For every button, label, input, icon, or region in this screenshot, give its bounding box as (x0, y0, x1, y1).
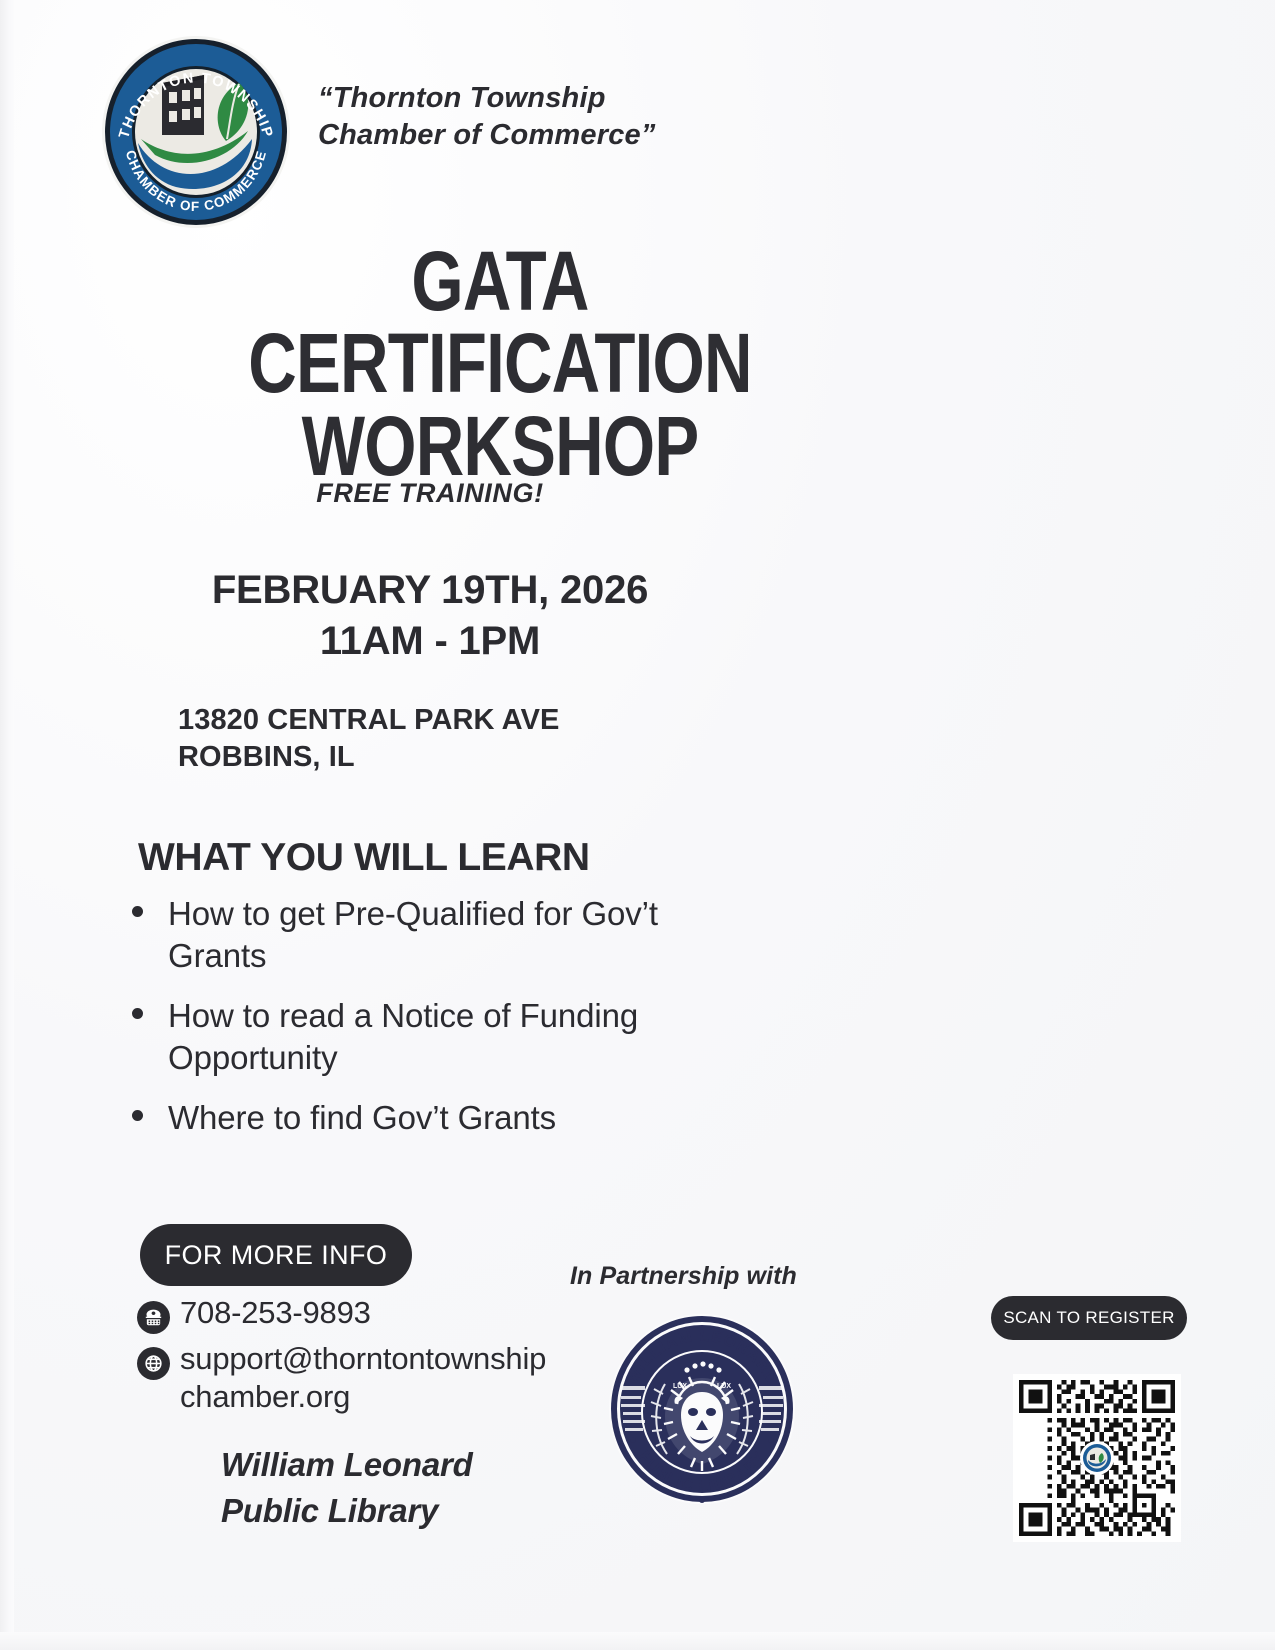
email-line-1: support@thorntontownship (180, 1341, 546, 1376)
address-line-2: ROBBINS, IL (178, 739, 738, 776)
library-name-line-1: William Leonard (221, 1442, 641, 1488)
title-line-2: WORKSHOP (196, 405, 804, 487)
contact-phone-row[interactable]: 708-253-9893 (137, 1294, 371, 1334)
bullet-icon (132, 906, 143, 917)
partnership-label: In Partnership with (570, 1262, 797, 1291)
list-item-label: How to get Pre-Qualified for Gov’t Grant… (168, 895, 658, 974)
chamber-mini-seal-icon (1082, 1443, 1112, 1473)
svg-text:LUX: LUX (673, 1383, 687, 1390)
right-inner-strip (1241, 1080, 1251, 1650)
contact-email-row[interactable]: support@thorntontownship chamber.org (137, 1340, 546, 1416)
more-info-button[interactable]: FOR MORE INFO (140, 1224, 412, 1286)
event-date: FEBRUARY 19TH, 2026 (120, 565, 740, 616)
scan-to-register-badge[interactable]: SCAN TO REGISTER (991, 1296, 1187, 1340)
library-seal-graphic: LUX LUX WILLIAM LEONARD PUBLIC LIBRARY (607, 1312, 797, 1507)
money-circle-ring (740, 376, 1275, 1042)
more-info-label: FOR MORE INFO (165, 1240, 388, 1271)
title-line-1: GATA CERTIFICATION (248, 234, 752, 410)
bullet-icon (132, 1008, 143, 1019)
scan-label: SCAN TO REGISTER (1003, 1308, 1174, 1328)
chamber-logo: THORNTON TOWNSHIP CHAMBER OF COMMERCE (100, 35, 292, 230)
subtitle: FREE TRAINING! (120, 478, 740, 509)
library-name: William Leonard Public Library (221, 1442, 641, 1533)
learn-heading: WHAT YOU WILL LEARN (138, 836, 590, 880)
list-item-label: Where to find Gov’t Grants (168, 1099, 556, 1136)
scan-edge-left (0, 0, 14, 1650)
library-name-line-2: Public Library (221, 1488, 641, 1534)
email-address: support@thorntontownship chamber.org (180, 1340, 546, 1416)
list-item: How to read a Notice of Funding Opportun… (122, 995, 682, 1078)
qr-code[interactable] (1013, 1374, 1181, 1542)
qr-center-logo (1080, 1441, 1114, 1475)
address-line-1: 13820 CENTRAL PARK AVE (178, 702, 738, 739)
quote-line-2: Chamber of Commerce” (318, 117, 738, 154)
globe-icon (137, 1347, 170, 1380)
library-seal: LUX LUX WILLIAM LEONARD PUBLIC LIBRARY (607, 1312, 797, 1507)
bullet-icon (132, 1110, 143, 1121)
list-item: How to get Pre-Qualified for Gov’t Grant… (122, 893, 682, 976)
chamber-quote: “Thornton Township Chamber of Commerce” (318, 80, 738, 153)
page-title: GATA CERTIFICATION WORKSHOP (196, 240, 804, 487)
telephone-icon (137, 1301, 170, 1334)
list-item: Where to find Gov’t Grants (122, 1097, 682, 1139)
flyer-poster: GRANT (0, 0, 1275, 1650)
event-time: 11AM - 1PM (120, 616, 740, 667)
learn-list: How to get Pre-Qualified for Gov’t Grant… (122, 893, 682, 1158)
list-item-label: How to read a Notice of Funding Opportun… (168, 997, 638, 1076)
event-when: FEBRUARY 19TH, 2026 11AM - 1PM (120, 565, 740, 667)
event-location: 13820 CENTRAL PARK AVE ROBBINS, IL (178, 702, 738, 776)
scan-edge-bottom (0, 1632, 1275, 1650)
email-line-2: chamber.org (180, 1379, 350, 1414)
phone-number: 708-253-9893 (180, 1294, 371, 1332)
svg-text:LUX: LUX (717, 1383, 731, 1390)
quote-line-1: “Thornton Township (318, 80, 738, 117)
chamber-seal-graphic: THORNTON TOWNSHIP CHAMBER OF COMMERCE (100, 35, 292, 230)
